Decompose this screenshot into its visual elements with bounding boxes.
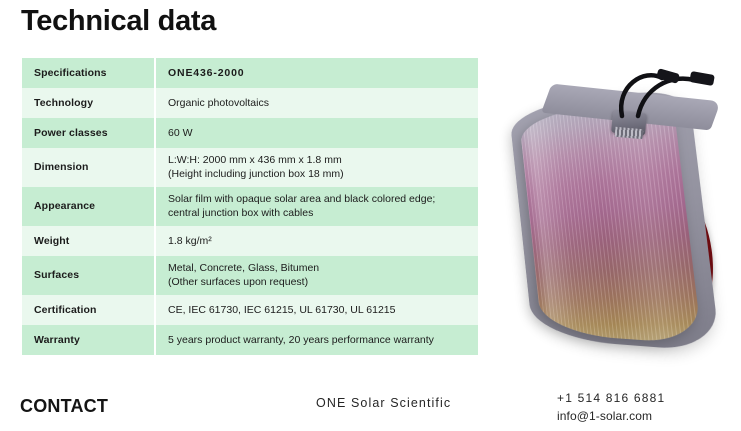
spec-label: Surfaces bbox=[22, 256, 156, 295]
table-row: Weight1.8 kg/m² bbox=[22, 226, 478, 256]
spec-label: Certification bbox=[22, 295, 156, 325]
page-title: Technical data bbox=[21, 6, 216, 38]
spec-value-line: (Other surfaces upon request) bbox=[168, 275, 470, 289]
spec-label: Dimension bbox=[22, 148, 156, 187]
spec-value: ONE436-2000 bbox=[156, 58, 478, 88]
table-row: Power classes60 W bbox=[22, 118, 478, 148]
spec-value: L:W:H: 2000 mm x 436 mm x 1.8 mm(Height … bbox=[156, 148, 478, 187]
table-row: CertificationCE, IEC 61730, IEC 61215, U… bbox=[22, 295, 478, 325]
contact-details: +1 514 816 6881 info@1-solar.com bbox=[557, 389, 665, 425]
spec-value: Solar film with opaque solar area and bl… bbox=[156, 187, 478, 226]
spec-value: CE, IEC 61730, IEC 61215, UL 61730, UL 6… bbox=[156, 295, 478, 325]
contact-email[interactable]: info@1-solar.com bbox=[557, 407, 665, 425]
spec-value-line: 60 W bbox=[168, 126, 470, 140]
spec-label: Power classes bbox=[22, 118, 156, 148]
spec-value: Metal, Concrete, Glass, Bitumen(Other su… bbox=[156, 256, 478, 295]
spec-value: 1.8 kg/m² bbox=[156, 226, 478, 256]
spec-label: Technology bbox=[22, 88, 156, 118]
spec-value-line: 5 years product warranty, 20 years perfo… bbox=[168, 333, 470, 347]
product-image bbox=[494, 62, 738, 358]
spec-label: Warranty bbox=[22, 325, 156, 355]
spec-value-line: Metal, Concrete, Glass, Bitumen bbox=[168, 261, 470, 275]
spec-label: Appearance bbox=[22, 187, 156, 226]
technical-data-table: SpecificationsONE436-2000TechnologyOrgan… bbox=[22, 58, 478, 355]
spec-label: Weight bbox=[22, 226, 156, 256]
contact-heading: CONTACT bbox=[20, 396, 108, 417]
table-row: SpecificationsONE436-2000 bbox=[22, 58, 478, 88]
spec-value: Organic photovoltaics bbox=[156, 88, 478, 118]
product-stage bbox=[494, 62, 738, 358]
spec-label: Specifications bbox=[22, 58, 156, 88]
table-body: SpecificationsONE436-2000TechnologyOrgan… bbox=[22, 58, 478, 355]
spec-value-line: (Height including junction box 18 mm) bbox=[168, 167, 470, 181]
cable-right bbox=[638, 79, 694, 116]
table-row: AppearanceSolar film with opaque solar a… bbox=[22, 187, 478, 226]
spec-value: 60 W bbox=[156, 118, 478, 148]
table-row: DimensionL:W:H: 2000 mm x 436 mm x 1.8 m… bbox=[22, 148, 478, 187]
connector-right bbox=[689, 71, 715, 86]
table-row: Warranty5 years product warranty, 20 yea… bbox=[22, 325, 478, 355]
cables-graphic bbox=[494, 62, 738, 358]
table-row: TechnologyOrganic photovoltaics bbox=[22, 88, 478, 118]
spec-value-line: 1.8 kg/m² bbox=[168, 234, 470, 248]
spec-value-line: central junction box with cables bbox=[168, 206, 470, 220]
spec-value-line: Solar film with opaque solar area and bl… bbox=[168, 192, 470, 206]
spec-value-line: ONE436-2000 bbox=[168, 66, 470, 80]
contact-phone[interactable]: +1 514 816 6881 bbox=[557, 389, 665, 407]
spec-value-line: CE, IEC 61730, IEC 61215, UL 61730, UL 6… bbox=[168, 303, 470, 317]
table-row: SurfacesMetal, Concrete, Glass, Bitumen(… bbox=[22, 256, 478, 295]
spec-value-line: L:W:H: 2000 mm x 436 mm x 1.8 mm bbox=[168, 153, 470, 167]
spec-value-line: Organic photovoltaics bbox=[168, 96, 470, 110]
company-name: ONE Solar Scientific bbox=[316, 396, 451, 410]
spec-value: 5 years product warranty, 20 years perfo… bbox=[156, 325, 478, 355]
